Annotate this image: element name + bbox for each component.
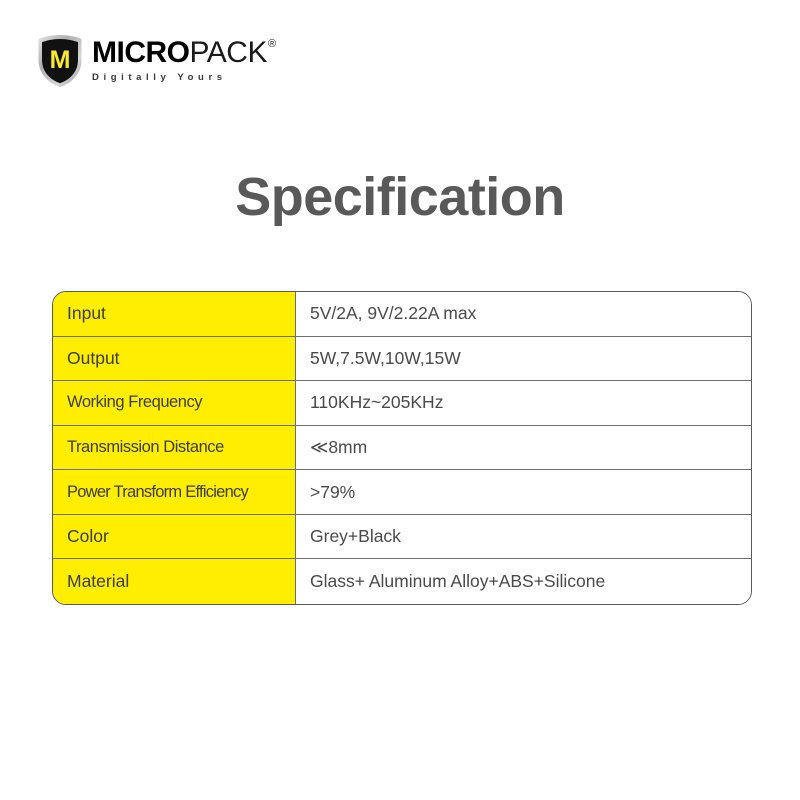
spec-value-power-transform-efficiency: >79% xyxy=(296,470,751,514)
specification-table: Input 5V/2A, 9V/2.22A max Output 5W,7.5W… xyxy=(52,291,752,605)
spec-value-color: Grey+Black xyxy=(296,515,751,559)
spec-value-material: Glass+ Aluminum Alloy+ABS+Silicone xyxy=(296,559,751,604)
table-row: Working Frequency 110KHz~205KHz xyxy=(53,381,751,426)
wordmark-micro: MICRO xyxy=(92,38,190,68)
spec-value-transmission-distance: ≪8mm xyxy=(296,426,751,470)
brand-wordmark: MICRO PACK ® Digitally Yours xyxy=(92,34,276,83)
spec-label-power-transform-efficiency: Power Transform Efficiency xyxy=(53,470,296,514)
registered-trademark-icon: ® xyxy=(268,39,276,50)
table-row: Color Grey+Black xyxy=(53,515,751,560)
brand-tagline: Digitally Yours xyxy=(92,72,276,83)
table-row: Power Transform Efficiency >79% xyxy=(53,470,751,515)
table-row: Transmission Distance ≪8mm xyxy=(53,426,751,471)
spec-label-material: Material xyxy=(53,559,296,604)
spec-label-color: Color xyxy=(53,515,296,559)
brand-logo: M MICRO PACK ® Digitally Yours xyxy=(36,34,276,88)
spec-value-output: 5W,7.5W,10W,15W xyxy=(296,337,751,381)
spec-label-transmission-distance: Transmission Distance xyxy=(53,426,296,470)
svg-text:M: M xyxy=(50,46,71,74)
table-row: Material Glass+ Aluminum Alloy+ABS+Silic… xyxy=(53,559,751,604)
spec-label-output: Output xyxy=(53,337,296,381)
table-row: Input 5V/2A, 9V/2.22A max xyxy=(53,292,751,337)
shield-m-logo-icon: M xyxy=(36,34,84,88)
spec-label-input: Input xyxy=(53,292,296,336)
spec-value-working-frequency: 110KHz~205KHz xyxy=(296,381,751,425)
table-row: Output 5W,7.5W,10W,15W xyxy=(53,337,751,382)
spec-value-input: 5V/2A, 9V/2.22A max xyxy=(296,292,751,336)
page-title: Specification xyxy=(0,168,800,227)
wordmark-pack: PACK xyxy=(190,38,267,68)
spec-label-working-frequency: Working Frequency xyxy=(53,381,296,425)
